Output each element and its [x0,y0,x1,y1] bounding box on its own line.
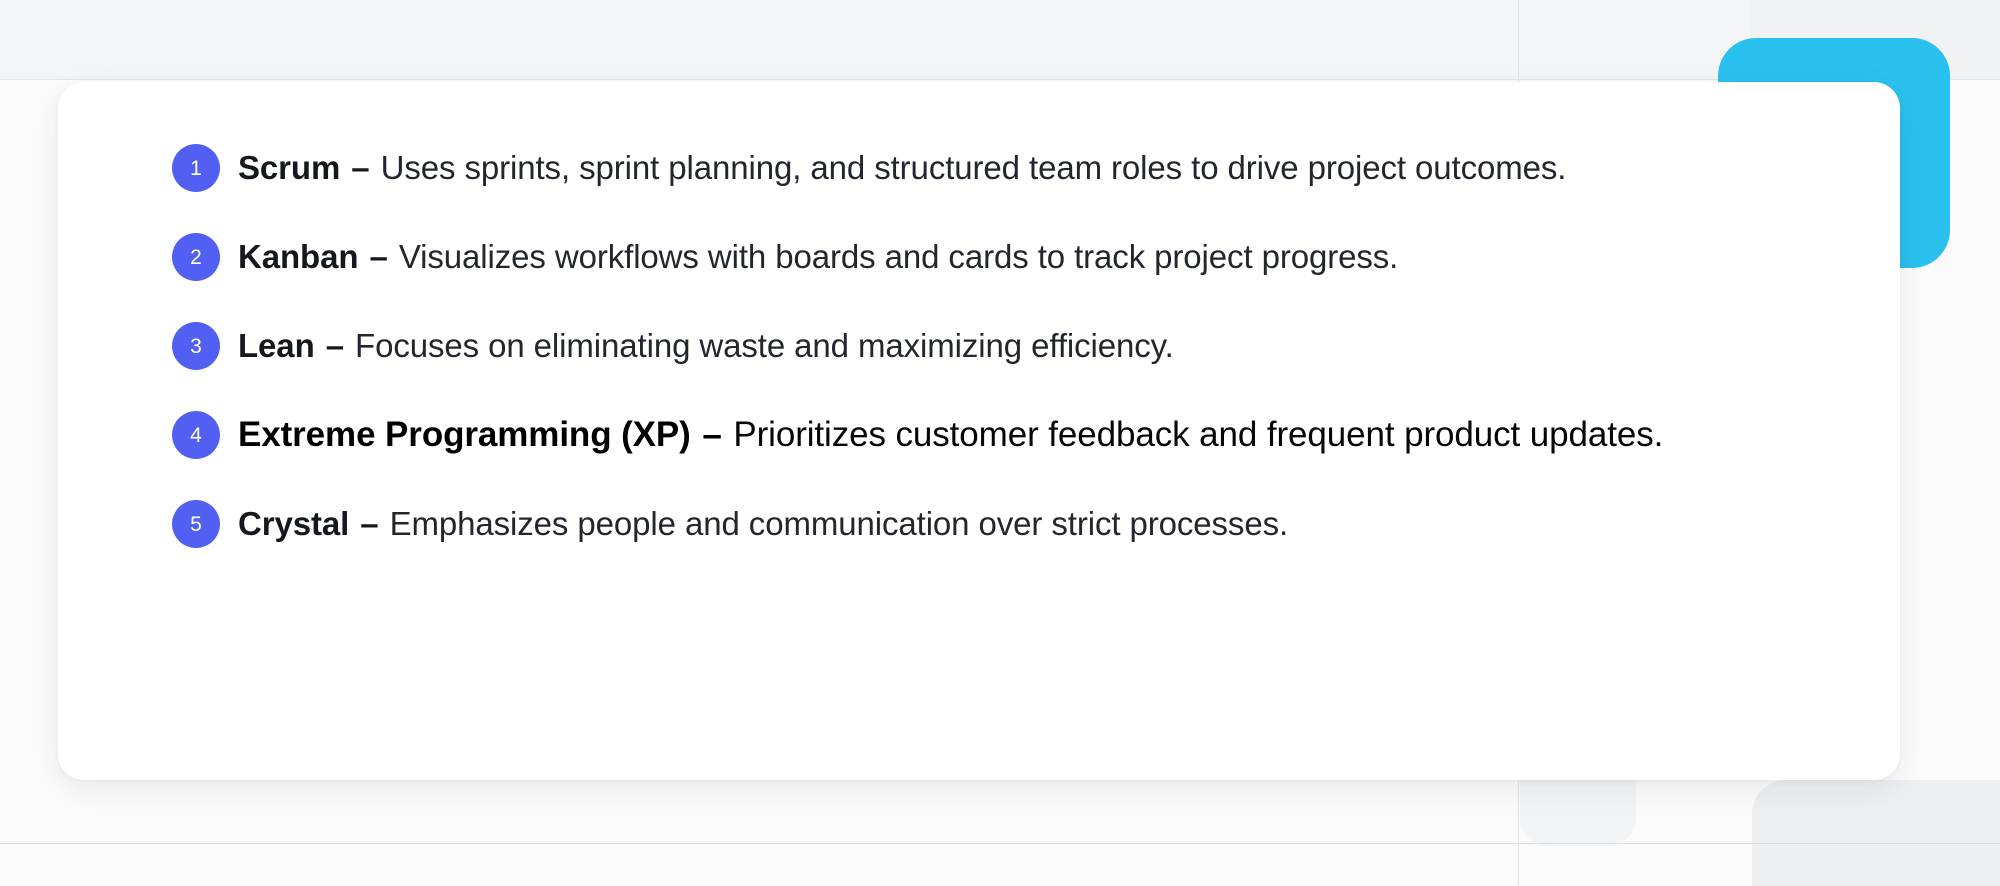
item-term: Extreme Programming (XP) [238,415,691,454]
list-item: 1 Scrum – Uses sprints, sprint planning,… [172,144,1860,192]
item-term: Kanban [238,238,358,275]
methodology-list: 1 Scrum – Uses sprints, sprint planning,… [172,144,1860,548]
item-description: Focuses on eliminating waste and maximiz… [355,327,1174,364]
item-number-badge: 3 [172,322,220,370]
item-text: Lean – Focuses on eliminating waste and … [238,327,1174,366]
item-description: Emphasizes people and communication over… [390,505,1288,542]
item-term: Lean [238,327,315,364]
background-gridline-horizontal-1 [0,79,2000,80]
background-block-center-lower [1520,780,1636,846]
list-item: 2 Kanban – Visualizes workflows with boa… [172,233,1860,281]
item-description: Uses sprints, sprint planning, and struc… [381,149,1567,186]
background-top-band [0,0,2000,80]
item-number-badge: 5 [172,500,220,548]
item-term: Crystal [238,505,349,542]
item-dash: – [358,238,398,275]
list-item: 4 Extreme Programming (XP) – Prioritizes… [172,411,1860,459]
item-number-badge: 4 [172,411,220,459]
item-dash: – [691,415,734,454]
item-dash: – [349,505,389,542]
item-number-badge: 1 [172,144,220,192]
item-text: Kanban – Visualizes workflows with board… [238,238,1398,277]
background-gridline-horizontal-2 [0,843,2000,844]
item-description: Visualizes workflows with boards and car… [399,238,1398,275]
item-dash: – [340,149,380,186]
background-block-right-lower [1752,780,2000,886]
item-description: Prioritizes customer feedback and freque… [733,415,1663,454]
item-text: Extreme Programming (XP) – Prioritizes c… [238,414,1663,455]
item-text: Scrum – Uses sprints, sprint planning, a… [238,149,1566,188]
item-term: Scrum [238,149,340,186]
list-item: 3 Lean – Focuses on eliminating waste an… [172,322,1860,370]
item-dash: – [315,327,355,364]
content-card: 1 Scrum – Uses sprints, sprint planning,… [58,82,1900,780]
list-item: 5 Crystal – Emphasizes people and commun… [172,500,1860,548]
item-text: Crystal – Emphasizes people and communic… [238,505,1288,544]
item-number-badge: 2 [172,233,220,281]
